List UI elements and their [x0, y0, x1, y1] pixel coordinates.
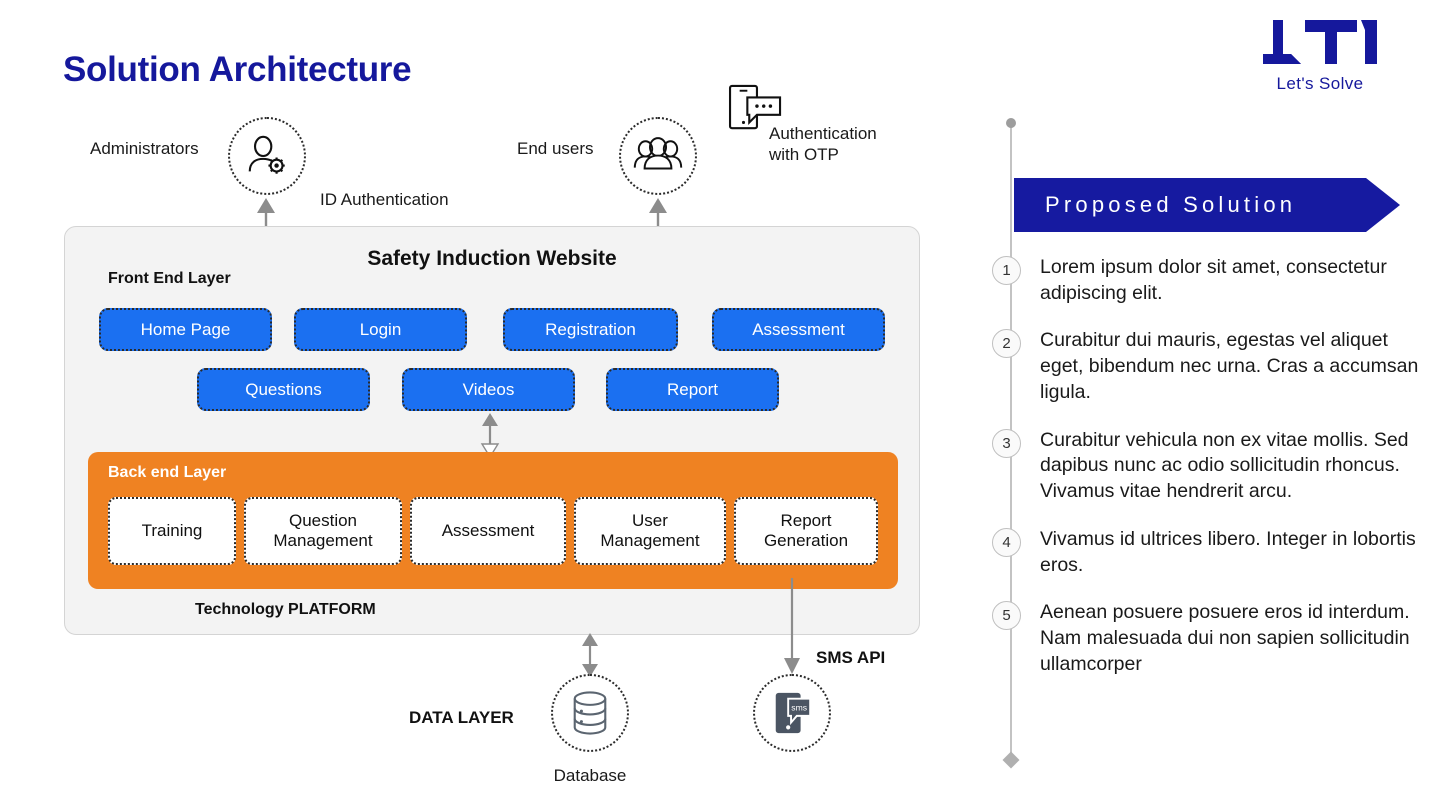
technology-platform-panel: Safety Induction Website Front End Layer…: [64, 226, 920, 635]
end-users-icon-circle: [619, 117, 697, 195]
frontend-chip-questions[interactable]: Questions: [197, 368, 370, 411]
administrators-label: Administrators: [90, 139, 199, 159]
user-group-icon: [633, 136, 683, 176]
list-item-text: Aenean posuere posuere eros id interdum.…: [1040, 600, 1422, 677]
list-item: 1 Lorem ipsum dolor sit amet, consectetu…: [992, 255, 1422, 306]
front-end-layer-label: Front End Layer: [108, 270, 231, 288]
list-item-text: Curabitur dui mauris, egestas vel alique…: [1040, 328, 1422, 405]
proposed-solution-list: 1 Lorem ipsum dolor sit amet, consectetu…: [992, 255, 1422, 700]
proposed-solution-banner-label: Proposed Solution: [1045, 178, 1296, 232]
back-end-layer-band: Back end Layer Training Question Managem…: [88, 452, 898, 589]
lti-logo-tagline: Let's Solve: [1240, 74, 1400, 94]
connector-admin-arrow: [248, 196, 284, 230]
lti-logo: Let's Solve: [1240, 18, 1400, 94]
id-authentication-label: ID Authentication: [320, 190, 449, 210]
connector-database-arrow: [578, 633, 602, 677]
frontend-chip-videos[interactable]: Videos: [402, 368, 575, 411]
timeline-dot-top: [1006, 118, 1016, 128]
frontend-chip-assessment[interactable]: Assessment: [712, 308, 885, 351]
database-cylinder-icon: [569, 690, 611, 736]
connector-videos-backend-arrow: [478, 413, 502, 457]
backend-box-user-management[interactable]: User Management: [574, 497, 726, 565]
list-item-text: Curabitur vehicula non ex vitae mollis. …: [1040, 428, 1422, 505]
connector-endusers-arrow: [640, 196, 676, 230]
sms-icon-circle: sms: [753, 674, 831, 752]
safety-induction-website-title: Safety Induction Website: [65, 247, 919, 271]
list-item-number: 3: [992, 429, 1021, 458]
database-icon-circle: [551, 674, 629, 752]
proposed-solution-banner: Proposed Solution: [1014, 178, 1400, 232]
backend-box-assessment[interactable]: Assessment: [410, 497, 566, 565]
list-item-text: Vivamus id ultrices libero. Integer in l…: [1040, 527, 1422, 578]
timeline-dot-bottom: [1003, 752, 1020, 769]
frontend-chip-home-page[interactable]: Home Page: [99, 308, 272, 351]
frontend-chip-registration[interactable]: Registration: [503, 308, 678, 351]
technology-platform-label: Technology PLATFORM: [195, 601, 376, 619]
list-item-number: 4: [992, 528, 1021, 557]
list-item-text: Lorem ipsum dolor sit amet, consectetur …: [1040, 255, 1422, 306]
otp-label: Authentication with OTP: [769, 123, 877, 166]
lti-logo-mark: [1261, 18, 1379, 70]
list-item-number: 1: [992, 256, 1021, 285]
list-item-number: 2: [992, 329, 1021, 358]
administrators-icon-circle: [228, 117, 306, 195]
list-item: 2 Curabitur dui mauris, egestas vel aliq…: [992, 328, 1422, 405]
sms-api-label: SMS API: [816, 648, 885, 668]
list-item: 4 Vivamus id ultrices libero. Integer in…: [992, 527, 1422, 578]
database-label: Database: [515, 766, 665, 786]
data-layer-label: DATA LAYER: [409, 708, 514, 728]
backend-box-report-generation[interactable]: Report Generation: [734, 497, 878, 565]
list-item: 3 Curabitur vehicula non ex vitae mollis…: [992, 428, 1422, 505]
backend-box-training[interactable]: Training: [108, 497, 236, 565]
frontend-chip-login[interactable]: Login: [294, 308, 467, 351]
page-title: Solution Architecture: [63, 50, 411, 90]
connector-sms-arrow: [780, 578, 804, 674]
list-item: 5 Aenean posuere posuere eros id interdu…: [992, 600, 1422, 677]
list-item-number: 5: [992, 601, 1021, 630]
sms-phone-icon: sms: [770, 690, 814, 736]
svg-text:sms: sms: [791, 703, 807, 713]
backend-box-question-management[interactable]: Question Management: [244, 497, 402, 565]
end-users-label: End users: [517, 139, 594, 159]
back-end-layer-label: Back end Layer: [108, 464, 226, 482]
frontend-chip-report[interactable]: Report: [606, 368, 779, 411]
admin-user-gear-icon: [244, 133, 290, 179]
